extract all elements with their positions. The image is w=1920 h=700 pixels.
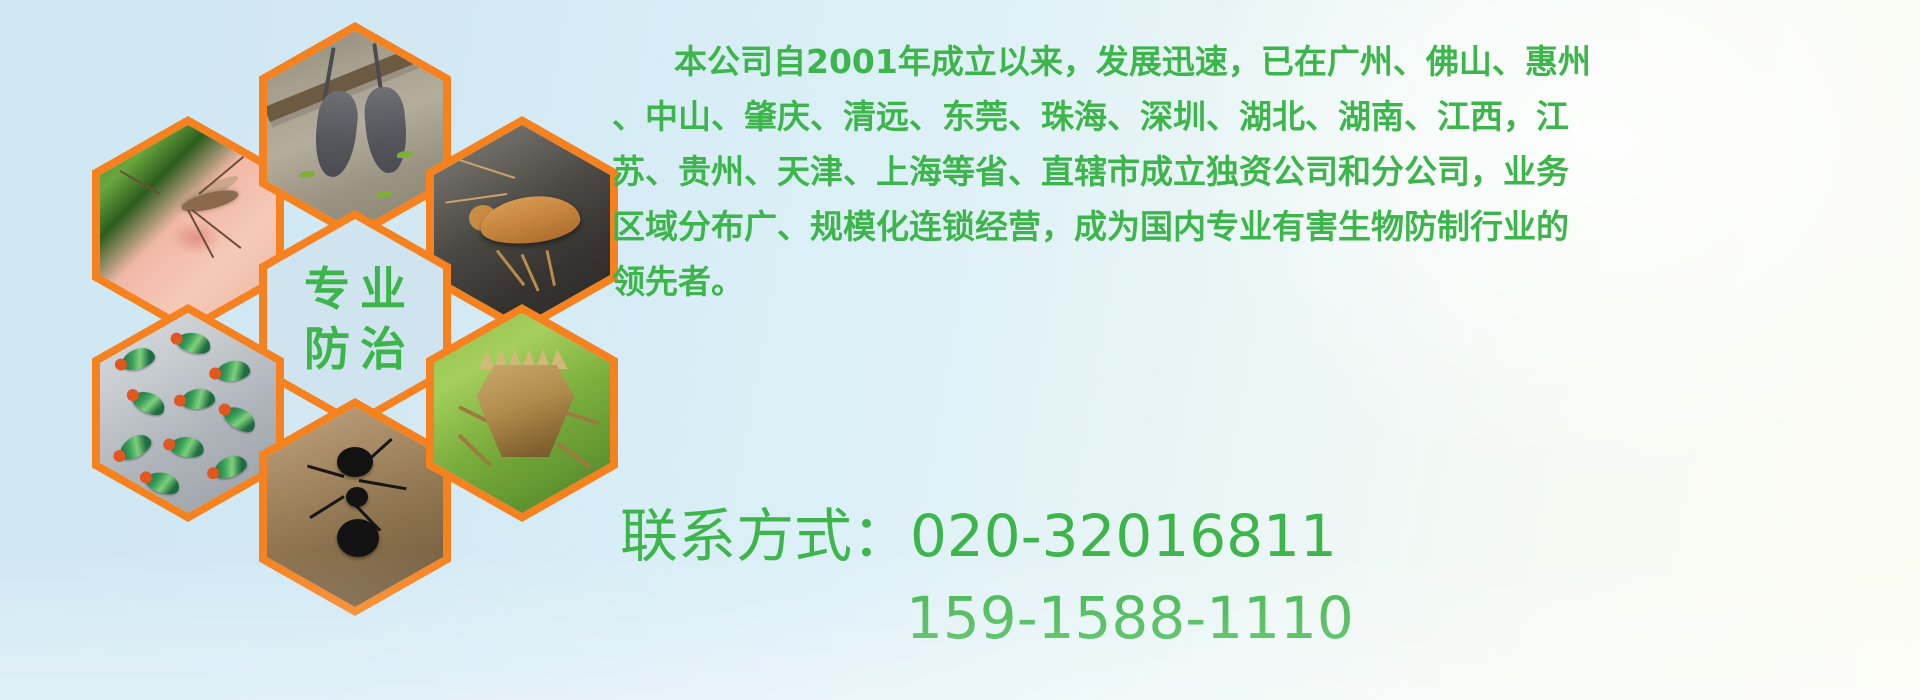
hex-cell-stinkbug[interactable]	[426, 304, 618, 522]
cockroach-photo	[434, 125, 610, 325]
intro-line-1: 本公司自2001年成立以来，发展迅速，已在广州、佛山、惠州	[612, 34, 1882, 89]
intro-line-2: 、中山、肇庆、清远、东莞、珠海、深圳、湖北、湖南、江西，江	[612, 89, 1882, 144]
hex-cell-ant[interactable]	[259, 398, 451, 616]
flies-photo	[100, 313, 276, 513]
ant-icon	[267, 407, 443, 607]
intro-line-3: 苏、贵州、天津、上海等省、直辖市成立独资公司和分公司，业务	[612, 144, 1882, 199]
hex-cell-flies[interactable]	[92, 304, 284, 522]
promo-banner: 专业 防治 本公司自2001年成立以来，发展迅速，已在广州、佛山、惠州 、中山、…	[0, 0, 1920, 700]
mosquito-icon	[100, 125, 276, 325]
stinkbug-photo	[434, 313, 610, 513]
cockroach-icon	[434, 125, 610, 325]
mosquito-photo	[100, 125, 276, 325]
contact-block: 联系方式：020-32016811 159-1588-1110	[620, 495, 1900, 659]
hex-cell-cockroach[interactable]	[426, 116, 618, 334]
fly-icon	[100, 313, 276, 513]
intro-line-4: 区域分布广、规模化连锁经营，成为国内专业有害生物防制行业的	[612, 199, 1882, 254]
ant-photo	[267, 407, 443, 607]
hex-cell-mosquito[interactable]	[92, 116, 284, 334]
rats-photo	[267, 31, 443, 231]
intro-line-5: 领先者。	[612, 254, 1882, 309]
honeycomb-image-cluster: 专业 防治	[92, 8, 592, 568]
stinkbug-icon	[434, 313, 610, 513]
hex-cell-rats[interactable]	[259, 22, 451, 240]
company-intro-paragraph: 本公司自2001年成立以来，发展迅速，已在广州、佛山、惠州 、中山、肇庆、清远、…	[612, 34, 1882, 309]
rat-icon	[267, 31, 443, 231]
contact-landline[interactable]: 联系方式：020-32016811	[620, 495, 1900, 577]
hex-cell-center-label	[259, 210, 451, 428]
contact-mobile[interactable]: 159-1588-1110	[620, 577, 1900, 659]
